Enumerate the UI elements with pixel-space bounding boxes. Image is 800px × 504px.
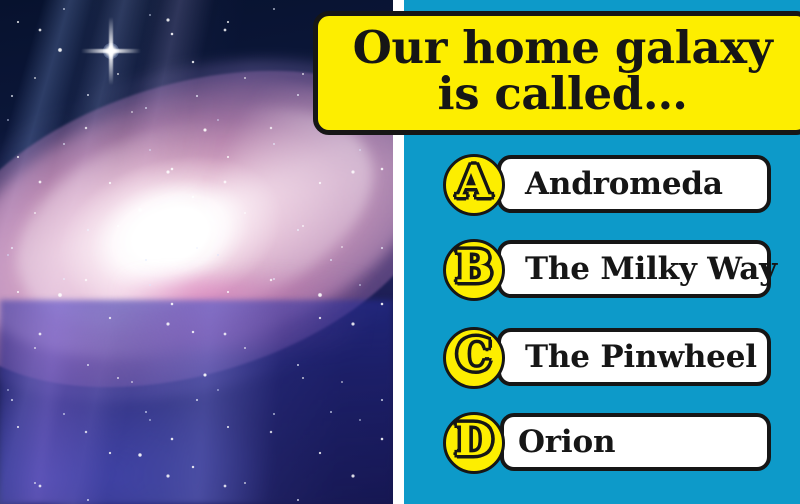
answer-pill[interactable]: The Pinwheel <box>497 328 771 386</box>
answer-badge-a[interactable]: A <box>443 154 505 216</box>
answer-option-d[interactable]: Orion D <box>443 412 773 474</box>
answer-label: The Milky Way <box>525 254 777 285</box>
quiz-card: Our home galaxy is called… Andromeda A T… <box>0 0 800 504</box>
question-banner: Our home galaxy is called… <box>313 11 800 135</box>
answer-option-a[interactable]: Andromeda A <box>443 154 773 216</box>
answer-label: The Pinwheel <box>525 342 757 373</box>
answer-option-b[interactable]: The Milky Way B <box>443 239 773 301</box>
answer-badge-letter: D <box>455 419 493 463</box>
answer-badge-d[interactable]: D <box>443 412 505 474</box>
answer-badge-letter: B <box>455 246 492 290</box>
answer-pill[interactable]: The Milky Way <box>497 240 771 298</box>
answer-option-c[interactable]: The Pinwheel C <box>443 327 773 389</box>
answer-pill[interactable]: Andromeda <box>497 155 771 213</box>
answer-badge-b[interactable]: B <box>443 239 505 301</box>
answer-label: Andromeda <box>525 169 723 200</box>
answer-badge-letter: A <box>457 161 491 205</box>
question-text: Our home galaxy is called… <box>353 25 773 118</box>
answer-badge-c[interactable]: C <box>443 327 505 389</box>
answer-badge-letter: C <box>456 334 491 378</box>
answer-pill[interactable]: Orion <box>500 413 771 471</box>
answer-label: Orion <box>518 427 615 458</box>
